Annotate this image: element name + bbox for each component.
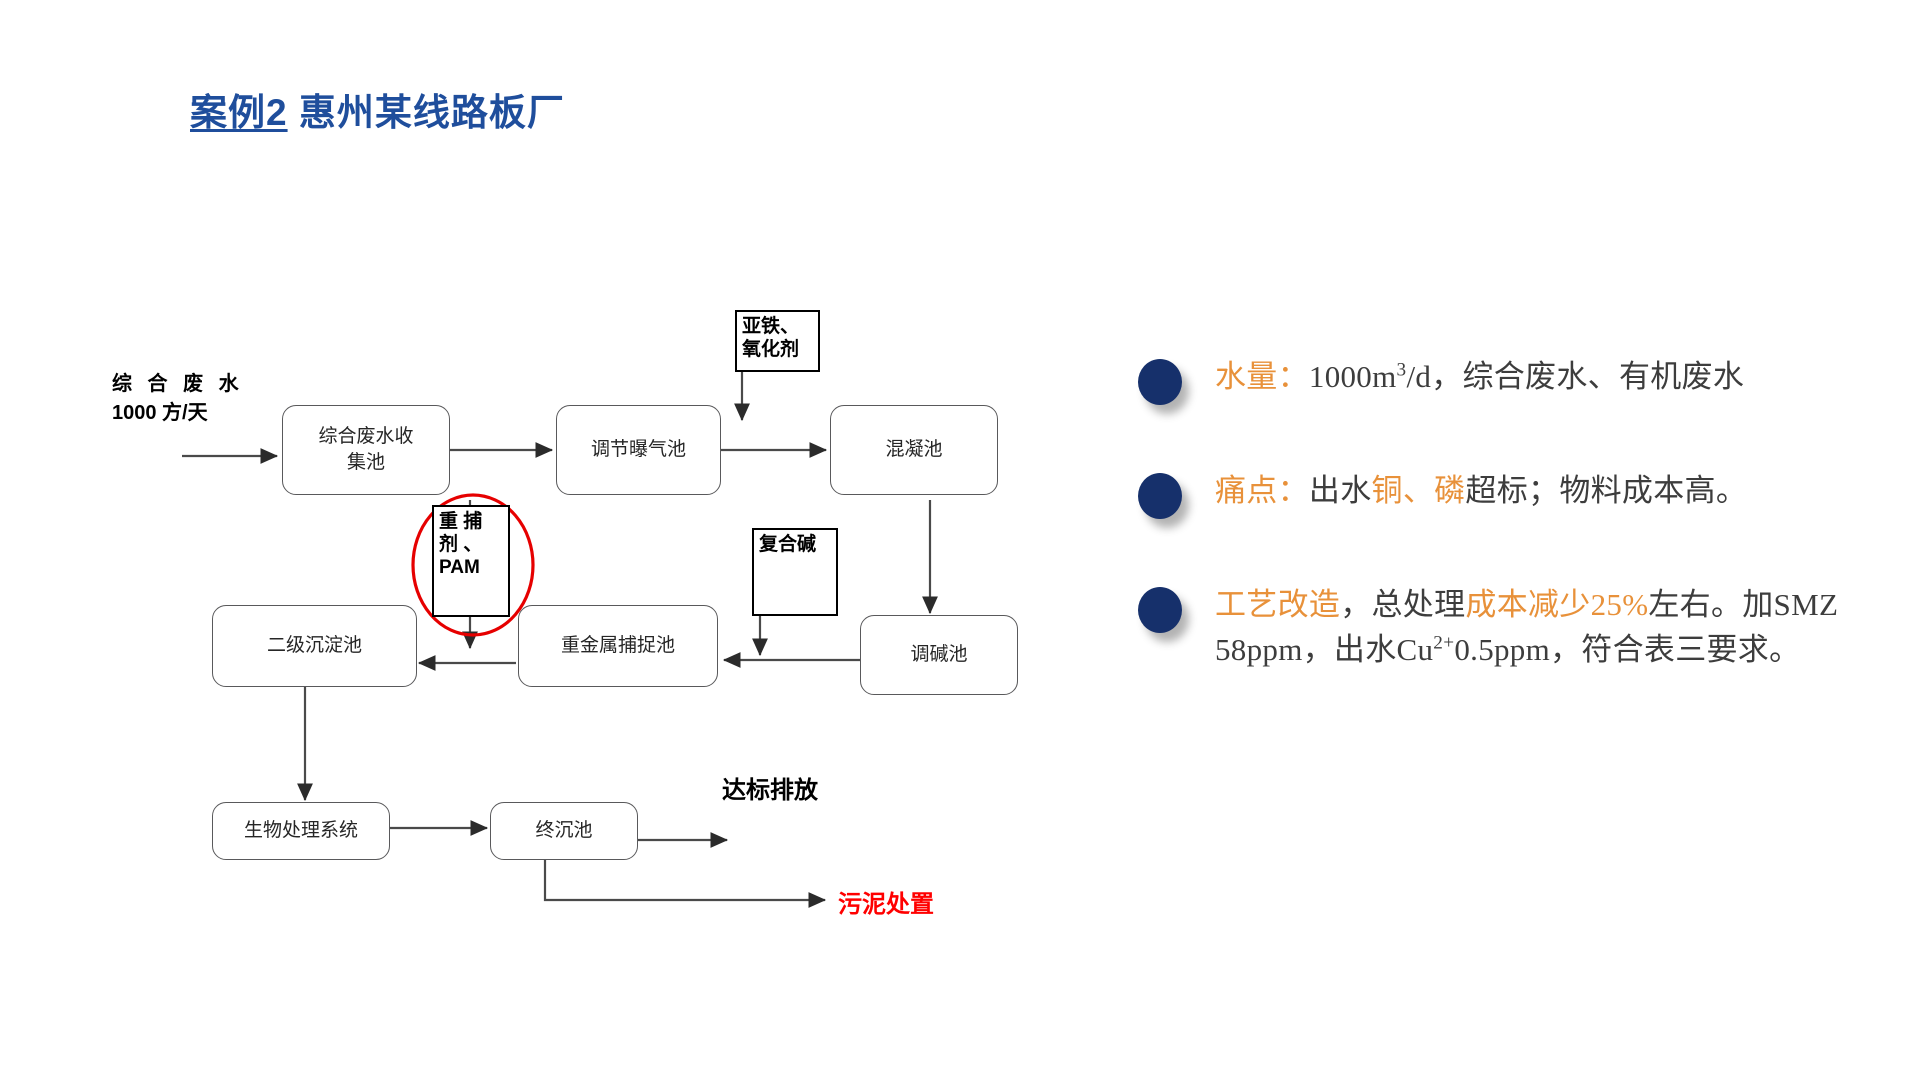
chem-compound-alkali[interactable]: 复合碱 (752, 528, 838, 616)
process-flow-diagram: 综 合 废 水 1000 方/天 综合废水收 集池 调节曝气池 混凝池 调碱池 … (0, 0, 1080, 1080)
bullet-item-pain-point: 痛点：出水铜、磷超标；物料成本高。 (1130, 469, 1870, 527)
node-heavy-metal-capture-tank[interactable]: 重金属捕捉池 (518, 605, 718, 687)
summary-bullet-list: 水量：1000m3/d，综合废水、有机废水 痛点：出水铜、磷超标；物料成本高。 … (1130, 355, 1870, 729)
node-biological-treatment-system[interactable]: 生物处理系统 (212, 802, 390, 860)
bullet-text-pain-point: 痛点：出水铜、磷超标；物料成本高。 (1215, 473, 1747, 508)
output-label-sludge-disposal: 污泥处置 (838, 884, 934, 919)
bullet-dot-icon (1138, 473, 1182, 519)
chem-ferrous-line1: 亚铁、 (742, 316, 813, 339)
chem-ferrous-oxidant[interactable]: 亚铁、 氧化剂 (735, 310, 820, 372)
inlet-label-line1: 综 合 废 水 (112, 370, 244, 399)
inlet-label-line2: 1000 方/天 (112, 399, 244, 428)
node-secondary-sedimentation-tank[interactable]: 二级沉淀池 (212, 605, 417, 687)
output-label-compliant-discharge: 达标排放 (722, 770, 818, 805)
bullet-item-water-volume: 水量：1000m3/d，综合废水、有机废水 (1130, 355, 1870, 413)
bullet-dot-icon (1138, 359, 1182, 405)
inlet-label: 综 合 废 水 1000 方/天 (112, 370, 244, 428)
node-coagulation-tank[interactable]: 混凝池 (830, 405, 998, 495)
bullet-text-water-volume: 水量：1000m3/d，综合废水、有机废水 (1215, 359, 1744, 394)
node-alkali-adjustment-tank[interactable]: 调碱池 (860, 615, 1018, 695)
chem-compound-line1: 复合碱 (759, 534, 831, 557)
chem-ferrous-line2: 氧化剂 (742, 339, 813, 362)
node-adjustment-aeration-tank[interactable]: 调节曝气池 (556, 405, 721, 495)
chem-capture-line3: PAM (439, 557, 503, 580)
chem-capture-line1: 重 捕 (439, 511, 503, 534)
bullet-text-process-upgrade: 工艺改造，总处理成本减少25%左右。加SMZ 58ppm，出水Cu2+0.5pp… (1215, 587, 1838, 667)
bullet-dot-icon (1138, 587, 1182, 633)
chem-capture-line2: 剂 、 (439, 534, 503, 557)
slide-canvas: 案例2 惠州某线路板厂 (0, 0, 1920, 1080)
bullet-item-process-upgrade: 工艺改造，总处理成本减少25%左右。加SMZ 58ppm，出水Cu2+0.5pp… (1130, 583, 1870, 673)
node-final-sedimentation-tank[interactable]: 终沉池 (490, 802, 638, 860)
chem-heavy-metal-capture-agent-pam[interactable]: 重 捕 剂 、 PAM (432, 505, 510, 617)
node-comprehensive-wastewater-collection-tank[interactable]: 综合废水收 集池 (282, 405, 450, 495)
